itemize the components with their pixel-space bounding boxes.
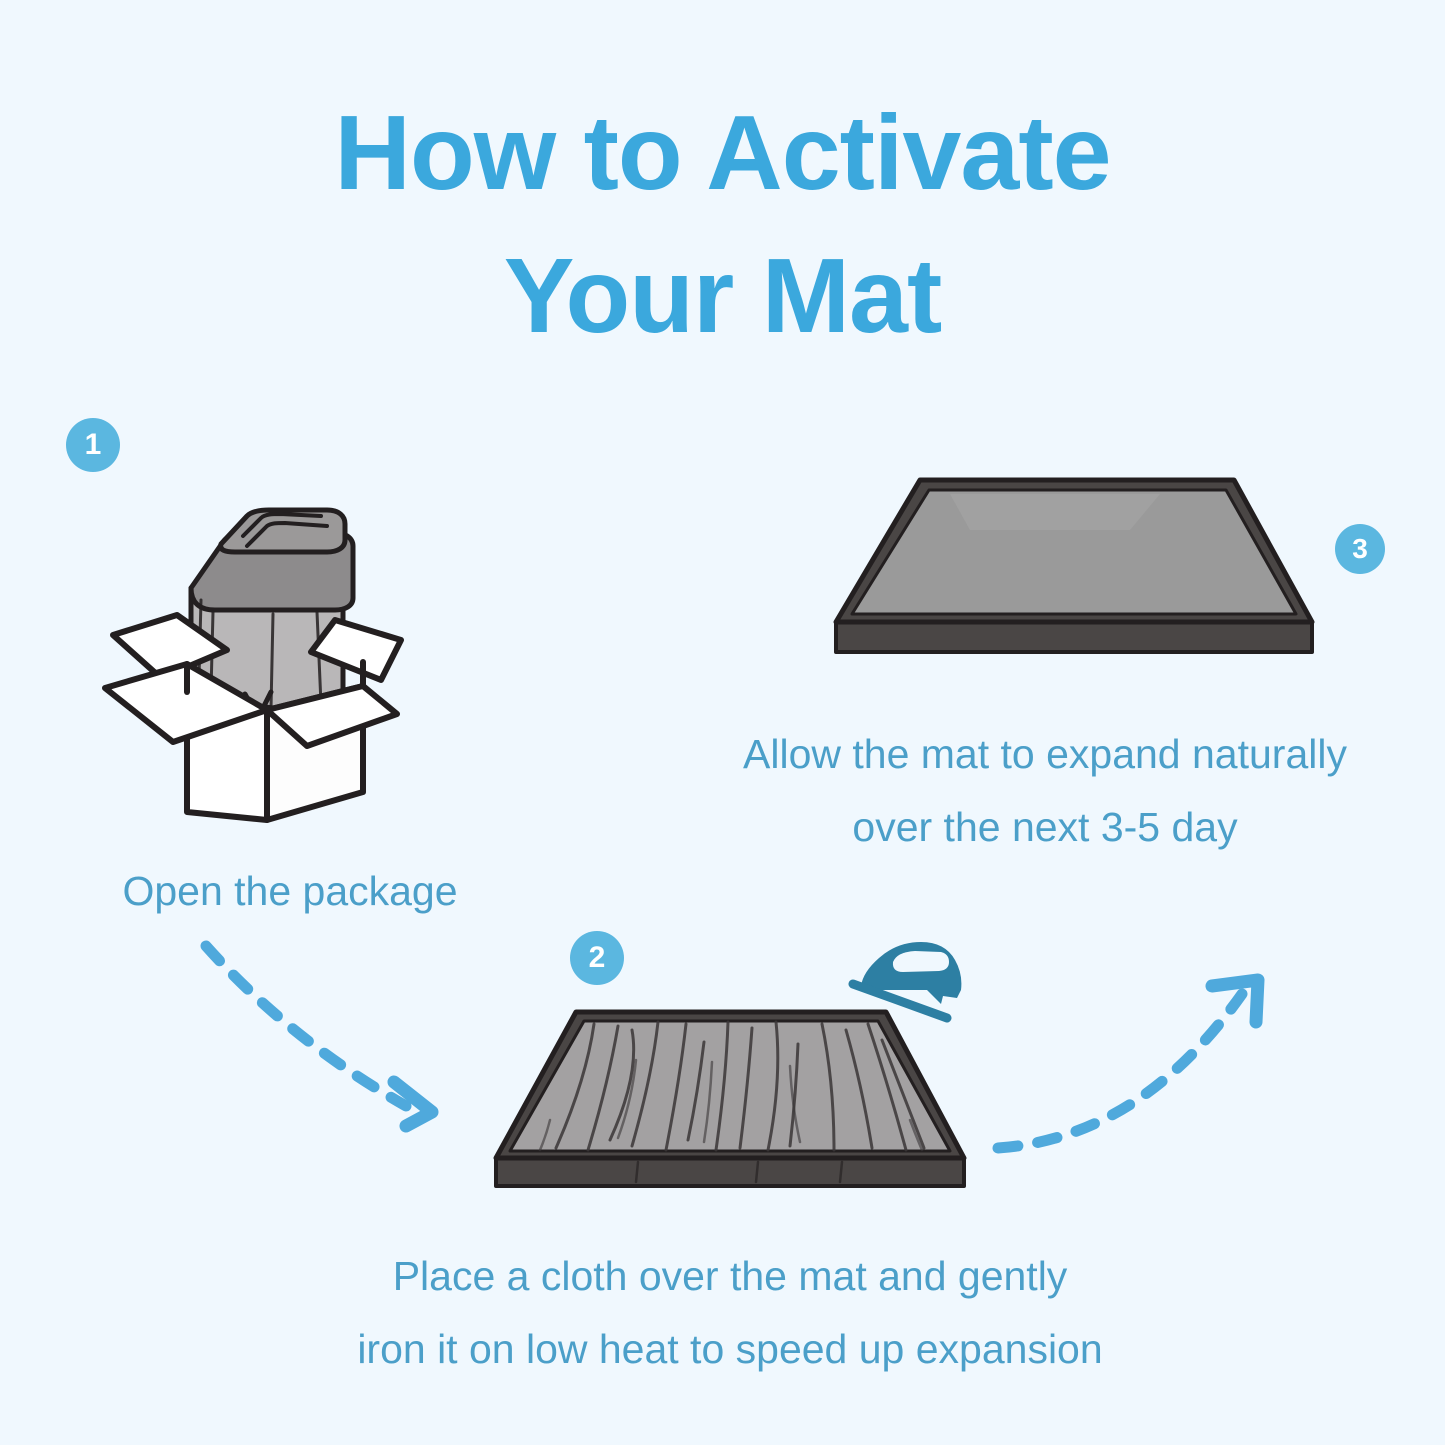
step-2-caption: Place a cloth over the mat and gently ir… xyxy=(250,1240,1210,1386)
step-1-badge: 1 xyxy=(66,418,120,472)
page-title: How to Activate Your Mat xyxy=(0,82,1445,368)
step-1-caption: Open the package xyxy=(40,855,540,928)
title-line-2: Your Mat xyxy=(0,225,1445,368)
title-line-1: How to Activate xyxy=(0,82,1445,225)
step-3-badge: 3 xyxy=(1335,524,1385,574)
step-2-badge: 2 xyxy=(570,931,624,985)
step-3-caption: Allow the mat to expand naturally over t… xyxy=(660,718,1430,864)
mat-with-cloth-illustration xyxy=(490,1000,970,1215)
expanded-mat-illustration xyxy=(830,470,1330,680)
infographic-page: How to Activate Your Mat 1 xyxy=(0,0,1445,1445)
dashed-curved-arrow-up-right-icon xyxy=(980,960,1290,1185)
dashed-curved-arrow-down-right-icon xyxy=(170,930,490,1150)
iron-icon xyxy=(845,928,975,1028)
open-box-illustration xyxy=(95,480,455,820)
